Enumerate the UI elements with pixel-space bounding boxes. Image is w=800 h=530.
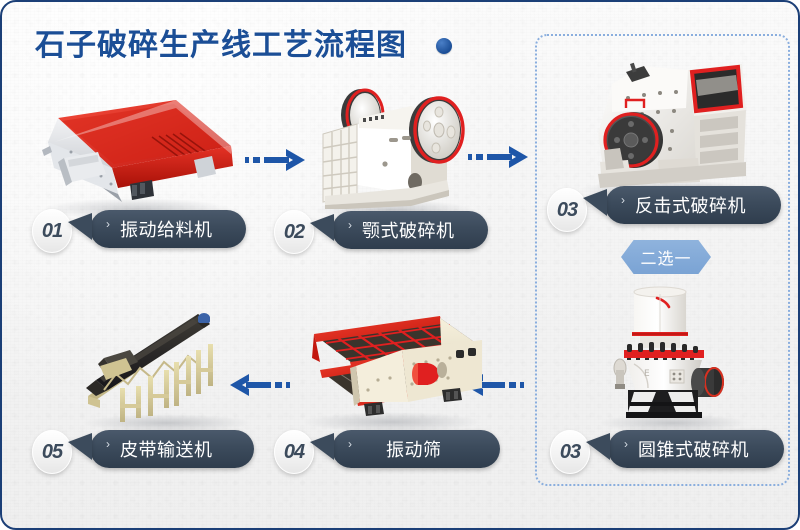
step-number-05: 05 — [42, 441, 62, 464]
step-label-text-03-cone: 圆锥式破碎机 — [638, 436, 749, 462]
chevron-right-icon: › — [106, 217, 110, 231]
chevron-right-icon: › — [621, 193, 625, 207]
step-number-03-impact: 03 — [557, 199, 577, 222]
step-number-badge-03-cone: 03 — [550, 430, 590, 474]
page-title: 石子破碎生产线工艺流程图 — [35, 20, 407, 64]
process-flow-diagram: 石子破碎生产线工艺流程图 — [0, 0, 800, 530]
arrow-feeder-to-jaw — [245, 147, 307, 173]
bullet-dot-icon — [436, 38, 452, 54]
svg-text:E: E — [644, 369, 650, 379]
choose-one-label: 二选一 — [640, 245, 691, 269]
step-label-belt-conveyor[interactable]: › 皮带输送机 — [90, 430, 254, 468]
step-label-text-01: 振动给料机 — [120, 216, 213, 242]
step-number-badge-02: 02 — [274, 210, 314, 254]
step-number-03-cone: 03 — [560, 441, 580, 464]
step-label-vibrating-screen[interactable]: › 振动筛 — [332, 430, 500, 468]
choose-one-badge: 二选一 — [621, 240, 711, 274]
chevron-right-icon: › — [106, 437, 110, 451]
arrow-jaw-to-impact — [468, 144, 530, 170]
step-label-jaw-crusher[interactable]: › 颚式破碎机 — [332, 211, 488, 249]
step-number-badge-04: 04 — [274, 430, 314, 474]
machine-cone-crusher: E — [594, 284, 754, 424]
machine-vibrating-feeder — [26, 90, 241, 210]
step-number-02: 02 — [284, 221, 304, 244]
step-label-text-05: 皮带输送机 — [120, 436, 213, 462]
step-number-badge-01: 01 — [32, 209, 72, 253]
step-number-01: 01 — [42, 220, 62, 243]
step-label-cone-crusher[interactable]: › 圆锥式破碎机 — [608, 430, 784, 468]
step-number-badge-03-impact: 03 — [547, 188, 587, 232]
chevron-right-icon: › — [348, 437, 352, 451]
machine-belt-conveyor — [74, 304, 264, 429]
step-label-impact-crusher[interactable]: › 反击式破碎机 — [605, 186, 781, 224]
step-number-badge-05: 05 — [32, 430, 72, 474]
machine-impact-crusher — [568, 50, 768, 195]
step-label-vibrating-feeder[interactable]: › 振动给料机 — [90, 210, 246, 248]
step-label-text-02: 颚式破碎机 — [362, 217, 455, 243]
chevron-right-icon: › — [624, 437, 628, 451]
step-label-text-04: 振动筛 — [386, 436, 442, 462]
machine-vibrating-screen — [290, 310, 490, 425]
step-label-text-03-impact: 反击式破碎机 — [635, 192, 746, 218]
step-number-04: 04 — [284, 441, 304, 464]
machine-jaw-crusher — [307, 74, 477, 209]
chevron-right-icon: › — [348, 218, 352, 232]
